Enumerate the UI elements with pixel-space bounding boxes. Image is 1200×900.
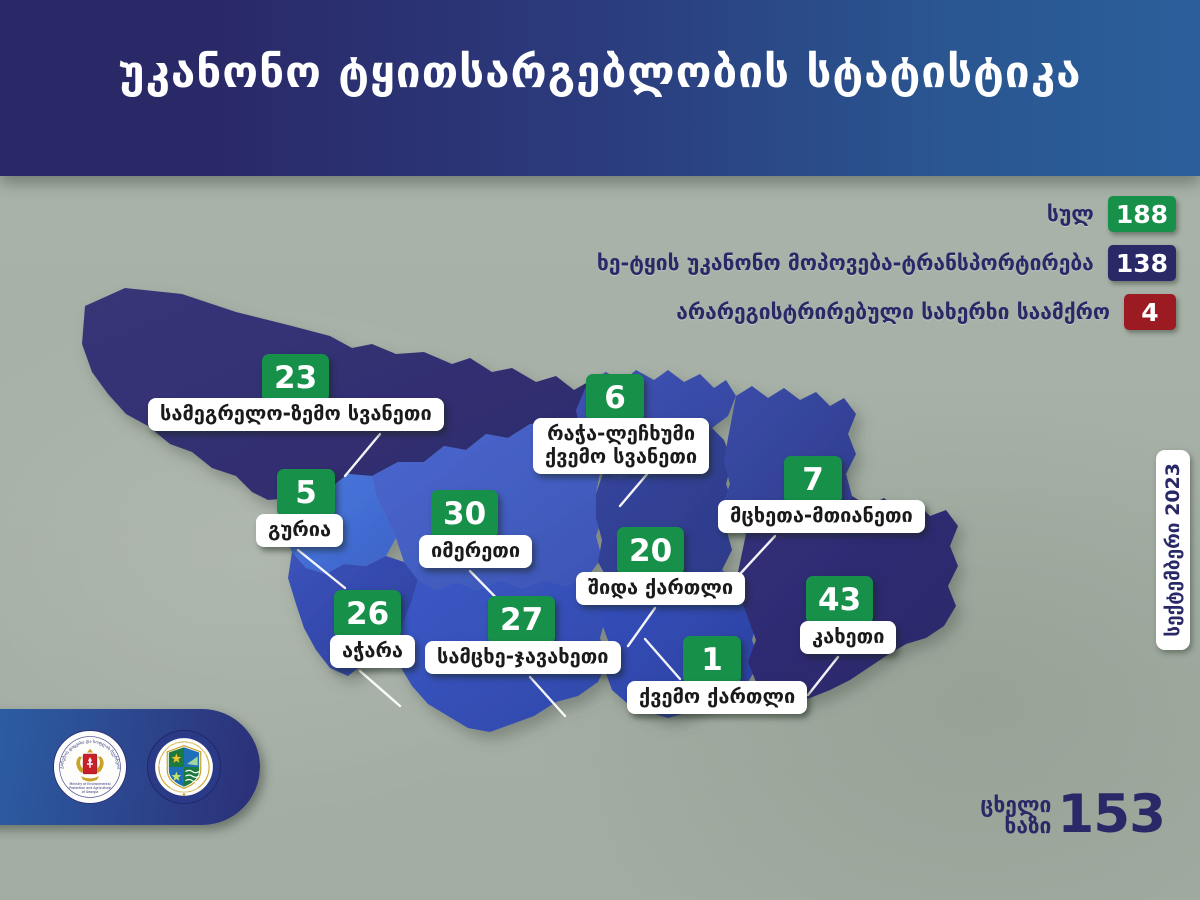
region-name-chip: ქვემო ქართლი [627,681,807,714]
region-marker-შიდა-ქართლი[interactable]: 20 [617,527,684,575]
region-label-სამეგრელო-ზემო-სვანეთი[interactable]: სამეგრელო-ზემო სვანეთი [148,401,444,431]
region-label-კახეთი[interactable]: კახეთი [800,624,896,654]
region-value-chip: 5 [277,469,335,517]
svg-text:of Georgia: of Georgia [82,790,99,794]
hotline: ცხელი ხაზი 153 [980,791,1165,840]
region-label-რაჭა-ლეჩხუმი-ქვემო-სვანეთი[interactable]: რაჭა-ლეჩხუმი ქვემო სვანეთი [533,421,709,474]
marker-inner: 43 [806,576,873,624]
region-marker-კახეთი[interactable]: 43 [806,576,873,624]
region-value-chip: 6 [586,374,644,422]
hotline-line2: ხაზი [980,816,1051,837]
region-value-chip: 26 [334,590,401,638]
region-marker-გურია[interactable]: 5 [277,469,335,517]
hotline-line1: ცხელი [980,795,1051,816]
region-name-chip: გურია [256,514,343,547]
marker-inner: 23 [262,354,329,402]
region-value-chip: 30 [431,490,498,538]
region-value-chip: 27 [488,596,555,644]
marker-inner: 5 [277,469,335,517]
region-marker-სამცხე-ჯავახეთი[interactable]: 27 [488,596,555,644]
date-badge: სექტემბერი 2023 [1156,450,1190,650]
region-value-chip: 23 [262,354,329,402]
marker-inner: 27 [488,596,555,644]
region-label-სამცხე-ჯავახეთი[interactable]: სამცხე-ჯავახეთი [425,644,621,674]
marker-inner: 30 [431,490,498,538]
region-label-აჭარა[interactable]: აჭარა [330,638,415,668]
region-name-chip: შიდა ქართლი [576,572,745,605]
region-name-chip: იმერეთი [419,535,532,568]
region-label-ქვემო-ქართლი[interactable]: ქვემო ქართლი [627,684,807,714]
region-marker-მცხეთა-მთიანეთი[interactable]: 7 [784,456,842,504]
legend-label: არარეგისტრირებული სახერხი საამქრო [676,300,1110,324]
marker-inner: 20 [617,527,684,575]
region-label-შიდა-ქართლი[interactable]: შიდა ქართლი [576,575,745,605]
region-value-chip: 7 [784,456,842,504]
leader-line [360,671,400,706]
marker-inner: 6 [586,374,644,422]
department-emblem-icon: გარემოსდაცვითი ზედამხედველობის დეპარტამე… [146,729,222,805]
legend-row: ხე-ტყის უკანონო მოპოვება-ტრანსპორტირება1… [597,245,1176,281]
region-label-მცხეთა-მთიანეთი[interactable]: მცხეთა-მთიანეთი [718,503,925,533]
region-value-chip: 20 [617,527,684,575]
region-marker-იმერეთი[interactable]: 30 [431,490,498,538]
infographic-canvas: უკანონო ტყითსარგებლობის სტატისტიკა [0,0,1200,900]
region-name-chip: კახეთი [800,621,896,654]
legend-label: ხე-ტყის უკანონო მოპოვება-ტრანსპორტირება [597,251,1094,275]
legend-value-chip: 4 [1124,294,1176,330]
region-marker-რაჭა-ლეჩხუმი-ქვემო-სვანეთი[interactable]: 6 [586,374,644,422]
marker-inner: 26 [334,590,401,638]
hotline-words: ცხელი ხაზი [980,795,1051,837]
logo-panel: Ministry of Environmental Protection and… [0,709,260,825]
region-name-chip: სამეგრელო-ზემო სვანეთი [148,398,444,431]
region-name-chip: მცხეთა-მთიანეთი [718,500,925,533]
ministry-emblem-icon: Ministry of Environmental Protection and… [52,729,128,805]
region-marker-აჭარა[interactable]: 26 [334,590,401,638]
legend-row: არარეგისტრირებული სახერხი საამქრო4 [676,294,1176,330]
legend: სულ188ხე-ტყის უკანონო მოპოვება-ტრანსპორტ… [597,196,1176,330]
region-label-იმერეთი[interactable]: იმერეთი [419,538,532,568]
region-name-chip: აჭარა [330,635,415,668]
page-title: უკანონო ტყითსარგებლობის სტატისტიკა [0,47,1200,98]
region-marker-ქვემო-ქართლი[interactable]: 1 [683,636,741,684]
header-banner: უკანონო ტყითსარგებლობის სტატისტიკა [0,0,1200,176]
legend-label: სულ [1047,202,1094,226]
region-name-chip: სამცხე-ჯავახეთი [425,641,621,674]
region-value-chip: 1 [683,636,741,684]
hotline-number: 153 [1057,791,1165,840]
region-marker-სამეგრელო-ზემო-სვანეთი[interactable]: 23 [262,354,329,402]
region-name-chip: რაჭა-ლეჩხუმი ქვემო სვანეთი [533,418,709,474]
legend-value-chip: 138 [1108,245,1176,281]
legend-row: სულ188 [1047,196,1176,232]
region-label-გურია[interactable]: გურია [256,517,343,547]
date-badge-text: სექტემბერი 2023 [1162,463,1184,637]
region-value-chip: 43 [806,576,873,624]
marker-inner: 7 [784,456,842,504]
legend-value-chip: 188 [1108,196,1176,232]
marker-inner: 1 [683,636,741,684]
